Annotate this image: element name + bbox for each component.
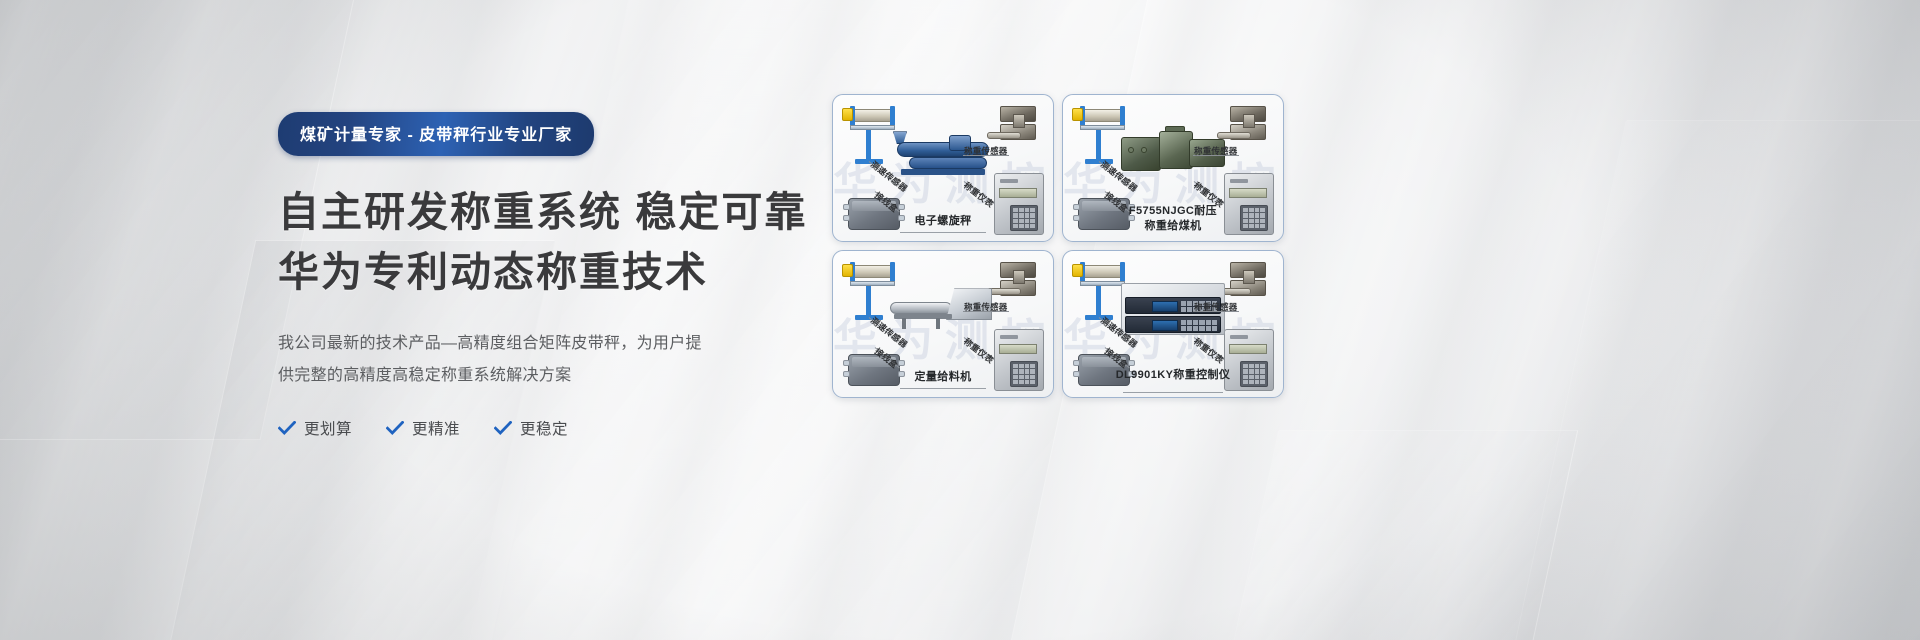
card-title-underline xyxy=(1123,392,1223,393)
product-card-grid: 华为测控 测速传感器 称重传感器 xyxy=(832,94,1284,398)
tagline-badge: 煤矿计量专家 - 皮带秤行业专业厂家 xyxy=(278,112,594,156)
card-title-underline xyxy=(900,388,986,389)
product-card-f5755njgc-coal-feeder[interactable]: 华为测控 测速传感器 称重传感器 xyxy=(1062,94,1284,242)
label-indicator: 称重仪表 xyxy=(1191,335,1226,366)
headline-line-2: 华为专利动态称重技术 xyxy=(278,244,838,300)
feature-bullet-3: 更稳定 xyxy=(494,417,568,439)
feature-bullet-2: 更精准 xyxy=(386,417,460,439)
feature-bullet-list: 更划算 更精准 更稳定 xyxy=(278,417,838,439)
card-title: 定量给料机 xyxy=(833,370,1053,384)
check-icon xyxy=(386,421,404,435)
label-load-cell: 称重传感器 xyxy=(1194,301,1238,313)
feature-bullet-1-label: 更划算 xyxy=(304,417,352,439)
feature-bullet-1: 更划算 xyxy=(278,417,352,439)
description-line-1: 我公司最新的技术产品—高精度组合矩阵皮带秤，为用户提 xyxy=(278,328,718,359)
product-card-quantitative-feeder[interactable]: 华为测控 测速传感器 称重传感器 xyxy=(832,250,1054,398)
headline-line-1: 自主研发称重系统 稳定可靠 xyxy=(278,184,838,240)
check-icon xyxy=(494,421,512,435)
feature-bullet-3-label: 更稳定 xyxy=(520,417,568,439)
card-title-line-2: 称重给煤机 xyxy=(1063,219,1283,233)
label-load-cell: 称重传感器 xyxy=(964,145,1008,157)
label-load-cell: 称重传感器 xyxy=(1194,145,1238,157)
card-title: 电子螺旋秤 xyxy=(833,214,1053,228)
card-title: F5755NJGC耐压 称重给煤机 xyxy=(1063,204,1283,233)
label-load-cell: 称重传感器 xyxy=(964,301,1008,313)
label-indicator: 称重仪表 xyxy=(961,179,996,210)
label-indicator: 称重仪表 xyxy=(961,335,996,366)
product-card-electronic-screw-scale[interactable]: 华为测控 测速传感器 称重传感器 xyxy=(832,94,1054,242)
description-line-2: 供完整的高精度高稳定称重系统解决方案 xyxy=(278,360,718,391)
check-icon xyxy=(278,421,296,435)
banner-copy-column: 煤矿计量专家 - 皮带秤行业专业厂家 自主研发称重系统 稳定可靠 华为专利动态称… xyxy=(278,112,838,439)
card-title-underline xyxy=(900,232,986,233)
card-title-line-1: F5755NJGC耐压 xyxy=(1063,204,1283,218)
description-paragraph: 我公司最新的技术产品—高精度组合矩阵皮带秤，为用户提 供完整的高精度高稳定称重系… xyxy=(278,328,718,390)
product-card-dl9901ky-controller[interactable]: 华为测控 测速传感器 xyxy=(1062,250,1284,398)
card-title: DL9901KY称重控制仪 xyxy=(1063,368,1283,382)
feature-bullet-2-label: 更精准 xyxy=(412,417,460,439)
